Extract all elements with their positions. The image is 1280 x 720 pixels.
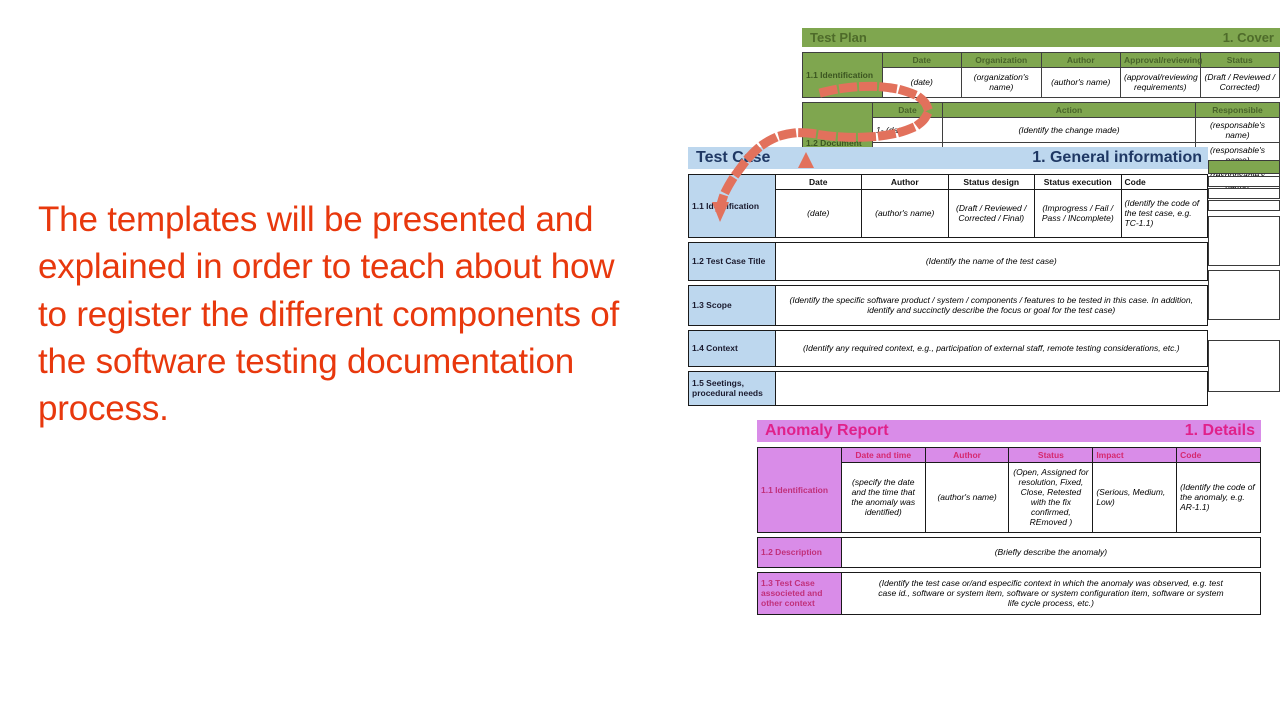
col-header-impact: Impact	[1093, 447, 1177, 462]
cell-date[interactable]: (date)	[775, 189, 862, 237]
table-row: 1.2 Test Case Title (Identify the name o…	[689, 242, 1208, 280]
anomaly-row-value[interactable]: (Identify the test case or/and especific…	[841, 572, 1260, 614]
table-row: 1.2 Document history Date Action Respons…	[803, 103, 1280, 118]
test-case-title: Test Case	[688, 149, 770, 167]
cell-status[interactable]: (Draft / Reviewed / Corrected)	[1200, 67, 1280, 97]
col-header-author: Author	[925, 447, 1009, 462]
anomaly-identification-label: 1.1 Identification	[758, 447, 842, 532]
strip-cell	[1208, 340, 1280, 392]
cell-history-date[interactable]: 1- (date)	[873, 118, 943, 143]
anomaly-row-label: 1.2 Description	[758, 537, 842, 567]
anomaly-title: Anomaly Report	[757, 422, 889, 440]
strip-cell	[1208, 188, 1280, 199]
anomaly-section: 1. Details	[1185, 422, 1261, 440]
table-row: 1.4 Context (Identify any required conte…	[689, 330, 1208, 366]
cell-code[interactable]: (Identify the code of the anomaly, e.g. …	[1177, 462, 1261, 532]
col-header-date: Date	[882, 52, 962, 67]
col-header-organization: Organization	[962, 52, 1042, 67]
col-header-status-execution: Status execution	[1035, 174, 1122, 189]
test-case-row-value[interactable]: (Identify the name of the test case)	[775, 242, 1208, 280]
table-row: 1.5 Seetings, procedural needs	[689, 371, 1208, 405]
table-row: 1.3 Test Case associeted and other conte…	[758, 572, 1261, 614]
col-header-action: Action	[943, 103, 1196, 118]
table-row: 1.2 Description (Briefly describe the an…	[758, 537, 1261, 567]
col-header-approval-reviewing: Approval/reviewing	[1121, 52, 1201, 67]
col-header-status: Status	[1200, 52, 1280, 67]
strip-cell	[1208, 216, 1280, 266]
col-header-status: Status	[1009, 447, 1093, 462]
test-case-identification-label: 1.1 Identification	[689, 174, 776, 237]
test-plan-header-band: Test Plan 1. Cover	[802, 28, 1280, 47]
strip-green-band	[1208, 160, 1280, 174]
narrative-text: The templates will be presented and expl…	[38, 196, 638, 432]
cell-status[interactable]: (Open, Assigned for resolution, Fixed, C…	[1009, 462, 1093, 532]
strip-cell	[1208, 200, 1280, 211]
col-header-code: Code	[1177, 447, 1261, 462]
cell-organization[interactable]: (organization's name)	[962, 67, 1042, 97]
table-row: 1.1 Identification Date Organization Aut…	[803, 52, 1280, 67]
test-plan-title: Test Plan	[802, 30, 867, 45]
test-case-row-label: 1.3 Scope	[689, 285, 776, 325]
cell-impact[interactable]: (Serious, Medium, Low)	[1093, 462, 1177, 532]
col-header-author: Author	[1041, 52, 1121, 67]
anomaly-report-panel[interactable]: Anomaly Report 1. Details 1.1 Identifica…	[757, 420, 1261, 615]
col-header-status-design: Status design	[948, 174, 1035, 189]
col-header-date: Date	[873, 103, 943, 118]
test-case-table: 1.1 Identification Date Author Status de…	[688, 169, 1208, 406]
cell-history-responsible[interactable]: (responsable's name)	[1196, 118, 1280, 143]
strip-cell	[1208, 270, 1280, 320]
cell-author[interactable]: (author's name)	[862, 189, 949, 237]
table-row: 1.1 Identification Date Author Status de…	[689, 174, 1208, 189]
cell-code[interactable]: (Identify the code of the test case, e.g…	[1121, 189, 1208, 237]
anomaly-row-label: 1.3 Test Case associeted and other conte…	[758, 572, 842, 614]
test-case-row-label: 1.2 Test Case Title	[689, 242, 776, 280]
test-case-row-label: 1.5 Seetings, procedural needs	[689, 371, 776, 405]
cell-date[interactable]: (date)	[882, 67, 962, 97]
test-plan-identification-table: 1.1 Identification Date Organization Aut…	[802, 47, 1280, 102]
test-case-section: 1. General information	[1032, 149, 1208, 167]
test-case-row-label: 1.4 Context	[689, 330, 776, 366]
cell-date-and-time[interactable]: (specify the date and the time that the …	[841, 462, 925, 532]
table-row: 1- (date) (Identify the change made) (re…	[803, 118, 1280, 143]
cell-status-design[interactable]: (Draft / Reviewed / Corrected / Final)	[948, 189, 1035, 237]
strip-cell	[1208, 176, 1280, 187]
table-row: 1.1 Identification Date and time Author …	[758, 447, 1261, 462]
test-case-row-value[interactable]: (Identify the specific software product …	[775, 285, 1208, 325]
test-case-row-value[interactable]: (Identify any required context, e.g., pa…	[775, 330, 1208, 366]
test-case-panel[interactable]: Test Case 1. General information 1.1 Ide…	[688, 147, 1208, 406]
col-header-author: Author	[862, 174, 949, 189]
anomaly-header-band: Anomaly Report 1. Details	[757, 420, 1261, 442]
cell-author[interactable]: (author's name)	[1041, 67, 1121, 97]
col-header-code: Code	[1121, 174, 1208, 189]
slide-canvas: The templates will be presented and expl…	[0, 0, 1280, 720]
test-plan-hidden-strip	[1208, 160, 1280, 428]
table-row: 1.3 Scope (Identify the specific softwar…	[689, 285, 1208, 325]
col-header-responsible: Responsible	[1196, 103, 1280, 118]
cell-status-execution[interactable]: (Improgress / Fail / Pass / INcomplete)	[1035, 189, 1122, 237]
cell-approval-reviewing[interactable]: (approval/reviewing requirements)	[1121, 67, 1201, 97]
test-plan-section: 1. Cover	[1223, 30, 1280, 45]
test-case-row-value[interactable]	[775, 371, 1208, 405]
col-header-date-and-time: Date and time	[841, 447, 925, 462]
col-header-date: Date	[775, 174, 862, 189]
test-plan-identification-label: 1.1 Identification	[803, 52, 883, 97]
cell-history-action[interactable]: (Identify the change made)	[943, 118, 1196, 143]
anomaly-report-table: 1.1 Identification Date and time Author …	[757, 442, 1261, 615]
test-case-header-band: Test Case 1. General information	[688, 147, 1208, 169]
cell-author[interactable]: (author's name)	[925, 462, 1009, 532]
anomaly-row-value[interactable]: (Briefly describe the anomaly)	[841, 537, 1260, 567]
